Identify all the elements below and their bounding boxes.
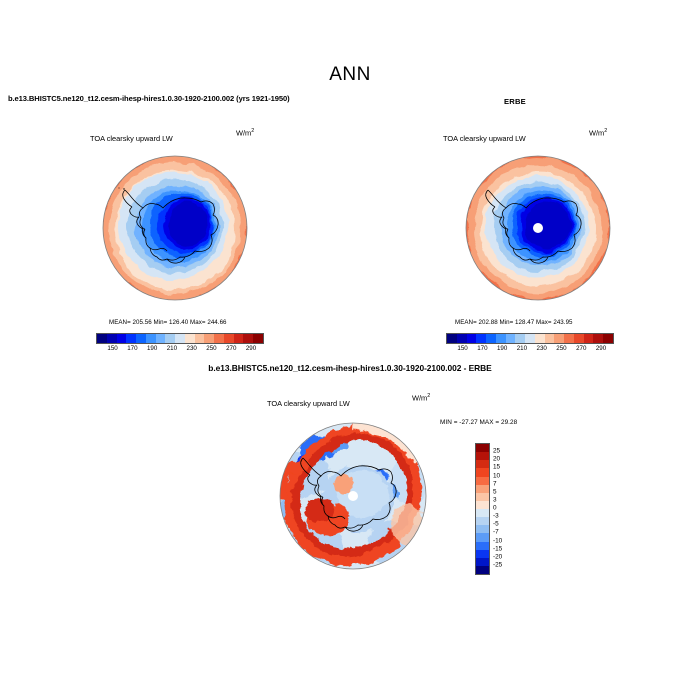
pole-data-gap (533, 223, 543, 233)
model-map-svg (75, 152, 275, 307)
diff-tick: 25 (493, 448, 500, 455)
obs-tick: 190 (497, 345, 507, 352)
model-case-title: b.e13.BHISTC5.ne120_t12.cesm-ihesp-hires… (8, 94, 290, 103)
diff-stats: MIN = -27.27 MAX = 29.28 (440, 419, 517, 426)
diff-tick: 10 (493, 472, 500, 479)
model-tick: 210 (167, 345, 177, 352)
diff-tick: -5 (493, 521, 499, 528)
obs-colorbar: 150 170 190 210 230 250 270 290 (446, 333, 614, 355)
diff-tick: 0 (493, 505, 497, 512)
model-units-label: W/m2 (236, 128, 254, 137)
diff-tick: 5 (493, 488, 497, 495)
obs-case-title: ERBE (455, 97, 575, 106)
model-variable-text: TOA clearsky upward LW (90, 134, 173, 143)
model-tick: 250 (206, 345, 216, 352)
diff-colorbar-ticks: 25 20 15 10 7 5 3 0 -3 -5 -7 -10 -15 -20… (493, 443, 521, 573)
model-colorbar-ticks: 150 170 190 210 230 250 270 290 (96, 345, 264, 355)
obs-units-exponent: 2 (604, 128, 607, 134)
model-stats: MEAN= 205.56 Min= 126.40 Max= 244.66 (109, 319, 227, 326)
diff-variable-text: TOA clearsky upward LW (267, 399, 350, 408)
diff-colorbar: 25 20 15 10 7 5 3 0 -3 -5 -7 -10 -15 -20… (475, 443, 521, 575)
model-tick: 170 (127, 345, 137, 352)
obs-tick: 170 (477, 345, 487, 352)
model-units-exponent: 2 (251, 128, 254, 134)
model-polar-map (75, 152, 275, 307)
model-variable-label: TOA clearsky upward LW (90, 128, 173, 146)
diff-tick: 15 (493, 464, 500, 471)
page-title: ANN (0, 64, 700, 86)
model-tick: 230 (187, 345, 197, 352)
diff-tick: 3 (493, 496, 497, 503)
model-tick: 290 (246, 345, 256, 352)
diff-tick: -10 (493, 537, 502, 544)
obs-tick: 250 (556, 345, 566, 352)
diff-tick: -25 (493, 561, 502, 568)
obs-tick: 290 (596, 345, 606, 352)
model-tick: 270 (226, 345, 236, 352)
obs-colorbar-swatches (446, 333, 614, 344)
diff-tick: -7 (493, 529, 499, 536)
model-tick: 150 (107, 345, 117, 352)
obs-units-label: W/m2 (589, 128, 607, 137)
diff-tick: -15 (493, 545, 502, 552)
diff-tick: -3 (493, 513, 499, 520)
obs-colorbar-ticks: 150 170 190 210 230 250 270 290 (446, 345, 614, 355)
diff-units-label: W/m2 (412, 393, 430, 402)
diff-map-svg (258, 414, 448, 579)
obs-variable-text: TOA clearsky upward LW (443, 134, 526, 143)
obs-stats: MEAN= 202.88 Min= 128.47 Max= 243.95 (455, 319, 573, 326)
model-colorbar: 150 170 190 210 230 250 270 290 (96, 333, 264, 355)
diff-tick: 20 (493, 456, 500, 463)
obs-map-svg (438, 152, 638, 307)
diff-tick: -20 (493, 553, 502, 560)
obs-tick: 230 (537, 345, 547, 352)
obs-polar-map (438, 152, 638, 307)
obs-tick: 150 (457, 345, 467, 352)
model-units-text: W/m (236, 128, 251, 137)
model-tick: 190 (147, 345, 157, 352)
diff-tick: 7 (493, 480, 497, 487)
obs-units-text: W/m (589, 128, 604, 137)
obs-tick: 270 (576, 345, 586, 352)
model-colorbar-swatches (96, 333, 264, 344)
diff-units-text: W/m (412, 393, 427, 402)
obs-tick: 210 (517, 345, 527, 352)
diff-polar-map (258, 414, 448, 579)
diff-units-exponent: 2 (427, 393, 430, 399)
diff-case-title: b.e13.BHISTC5.ne120_t12.cesm-ihesp-hires… (0, 363, 700, 373)
pole-data-gap (348, 491, 358, 501)
diff-colorbar-swatches (475, 443, 490, 575)
